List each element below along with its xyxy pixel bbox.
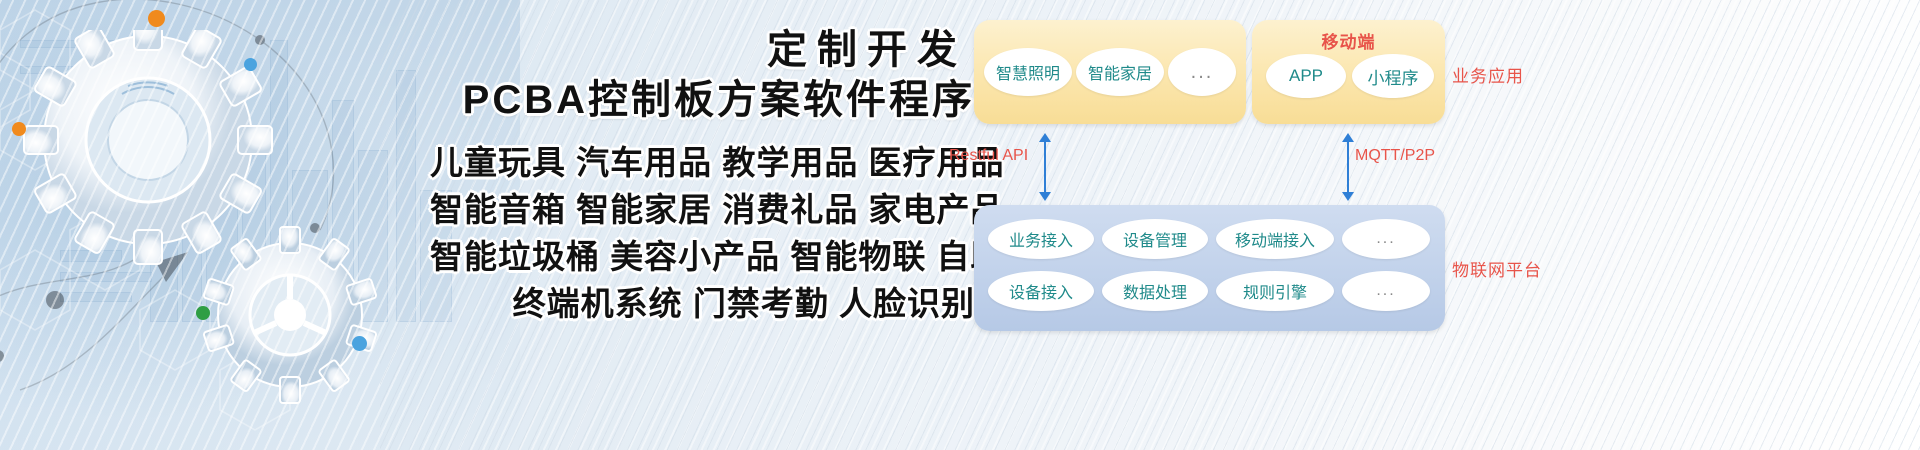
mobile-card: 移动端 APP 小程序 — [1252, 20, 1445, 124]
side-label-applications: 业务应用 — [1452, 62, 1524, 87]
connector-arrow-mqtt — [1347, 141, 1349, 193]
product-line-3: 智能垃圾桶 美容小产品 智能物联 自助 — [430, 240, 975, 273]
accent-dot-green — [196, 306, 210, 320]
connector-label-mqtt: MQTT/P2P — [1355, 147, 1435, 165]
connector-arrow-restful — [1044, 141, 1046, 193]
accent-dot-orange-1 — [148, 10, 165, 27]
platform-pill-device-management[interactable]: 设备管理 — [1102, 219, 1208, 259]
platform-pill-more-row2[interactable]: ... — [1342, 271, 1430, 311]
promo-banner: 定制开发 PCBA控制板方案软件程序 儿童玩具 汽车用品 教学用品 医疗用品 智… — [0, 0, 1920, 450]
app-pill-smart-lighting[interactable]: 智慧照明 — [984, 48, 1072, 96]
platform-card: 业务接入 设备管理 移动端接入 ... 设备接入 数据处理 规则引擎 ... — [974, 205, 1445, 331]
gear-illustration — [20, 30, 500, 450]
product-line-1: 儿童玩具 汽车用品 教学用品 医疗用品 — [430, 146, 975, 179]
headline-line-1: 定制开发 — [430, 30, 967, 70]
app-pill-more[interactable]: ... — [1168, 48, 1236, 96]
iot-architecture-diagram: 智慧照明 智能家居 ... 移动端 APP 小程序 业务应用 物联网平台 Res… — [952, 0, 1920, 450]
platform-pill-rule-engine[interactable]: 规则引擎 — [1216, 271, 1334, 311]
mobile-pill-app[interactable]: APP — [1266, 54, 1346, 98]
platform-pill-mobile-access[interactable]: 移动端接入 — [1216, 219, 1334, 259]
platform-pill-more-row1[interactable]: ... — [1342, 219, 1430, 259]
platform-pill-device-access[interactable]: 设备接入 — [988, 271, 1094, 311]
platform-pill-data-processing[interactable]: 数据处理 — [1102, 271, 1208, 311]
product-line-4: 终端机系统 门禁考勤 人脸识别 — [430, 287, 975, 320]
product-line-2: 智能音箱 智能家居 消费礼品 家电产品 — [430, 193, 975, 226]
platform-pill-business-access[interactable]: 业务接入 — [988, 219, 1094, 259]
side-label-platform: 物联网平台 — [1452, 256, 1542, 281]
application-card: 智慧照明 智能家居 ... — [974, 20, 1246, 124]
app-pill-smart-home[interactable]: 智能家居 — [1076, 48, 1164, 96]
accent-dot-blue-1 — [244, 58, 257, 71]
headline-block: 定制开发 PCBA控制板方案软件程序 儿童玩具 汽车用品 教学用品 医疗用品 智… — [430, 8, 975, 368]
accent-dot-orange-2 — [12, 122, 26, 136]
headline-line-2: PCBA控制板方案软件程序 — [430, 80, 975, 120]
mobile-card-title: 移动端 — [1252, 28, 1445, 53]
mobile-pill-miniprogram[interactable]: 小程序 — [1352, 54, 1434, 98]
accent-dot-blue-2 — [352, 336, 367, 351]
connector-label-restful: Restful API — [949, 147, 1028, 165]
